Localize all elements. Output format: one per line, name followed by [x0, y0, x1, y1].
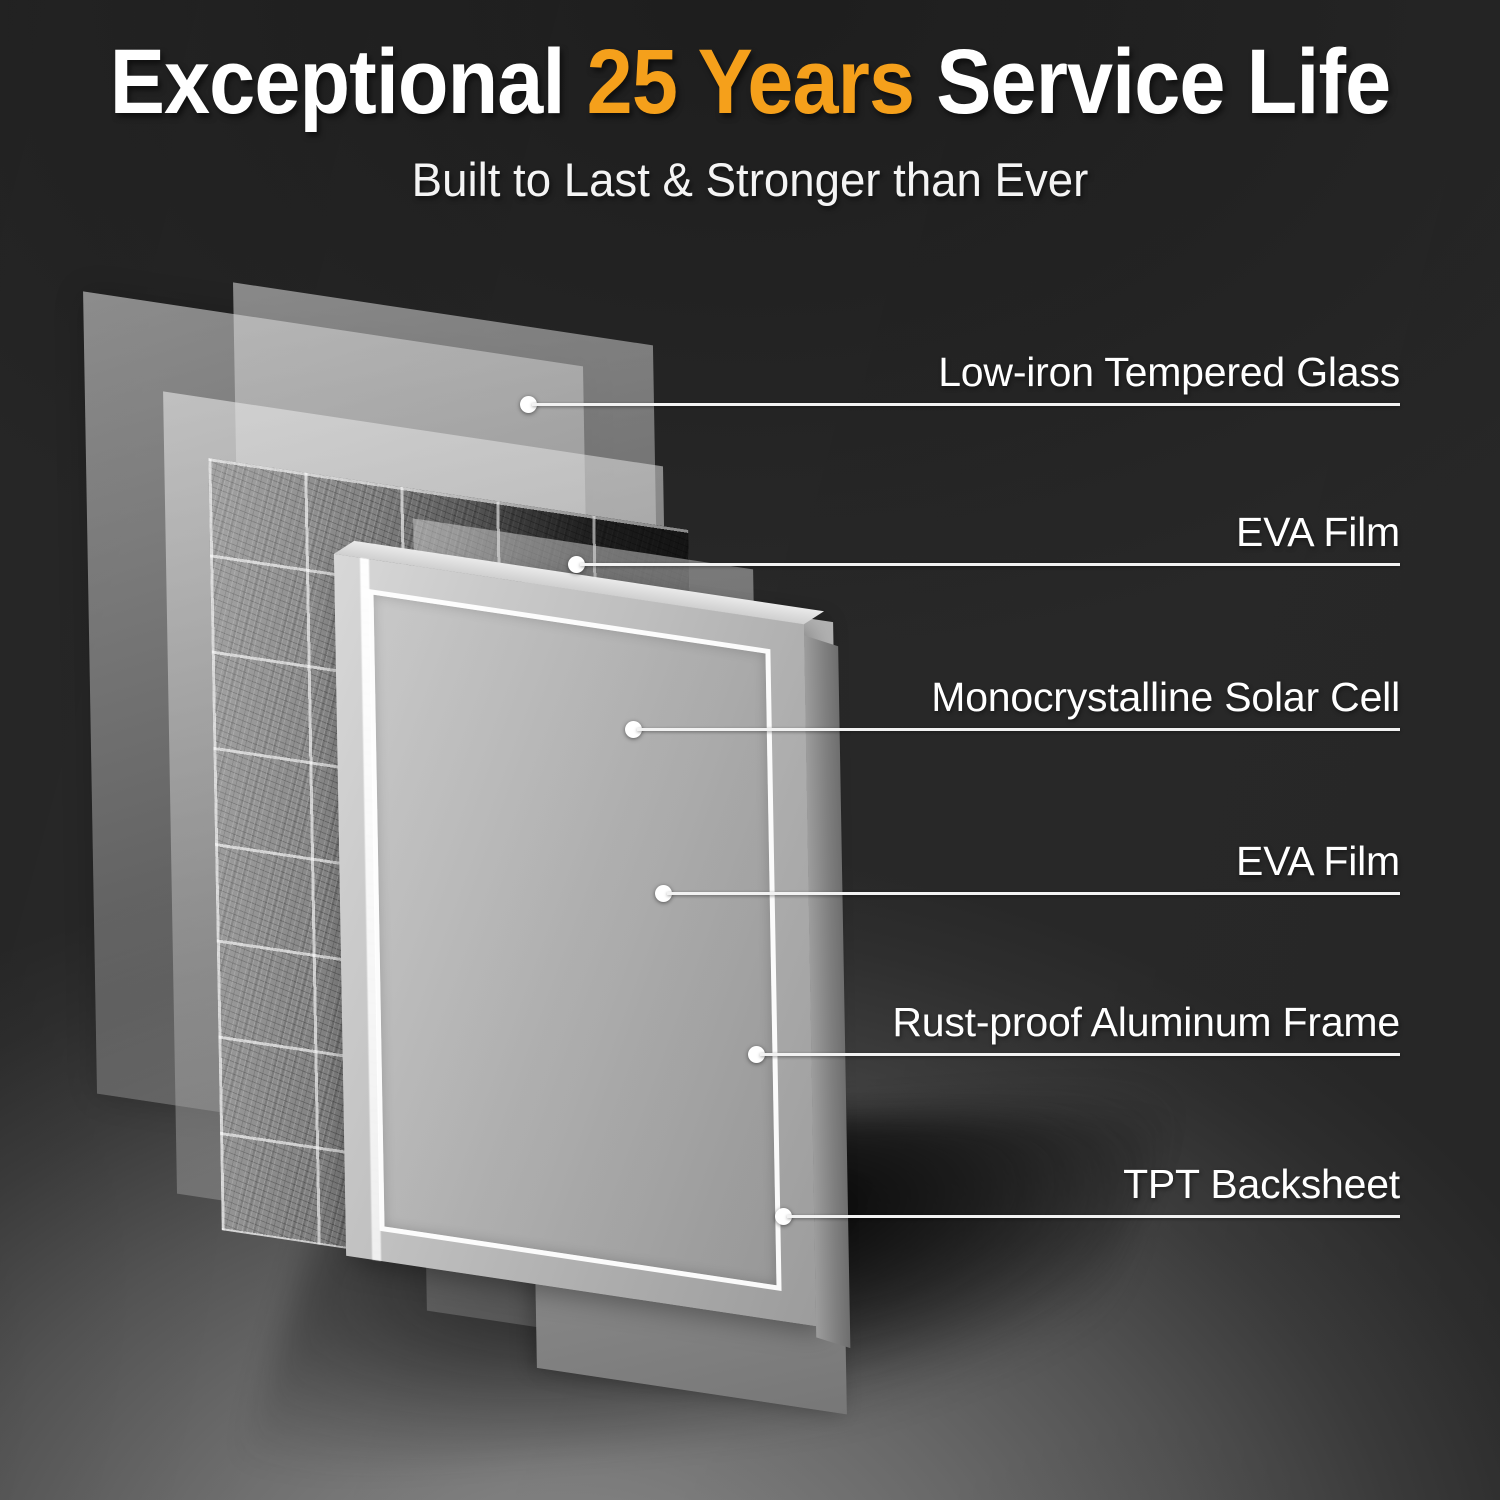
callout-rule	[532, 403, 1400, 406]
page-subtitle: Built to Last & Stronger than Ever	[23, 152, 1478, 207]
callout-monocrystalline-solar-cell: Monocrystalline Solar Cell	[625, 643, 1400, 731]
page-title: Exceptional 25 Years Service Life	[75, 36, 1425, 130]
callout-rule	[760, 1053, 1400, 1056]
title-part-2: Service Life	[936, 31, 1390, 133]
callout-rule	[667, 892, 1400, 895]
header: Exceptional 25 Years Service Life Built …	[0, 36, 1500, 207]
callout-eva-film-bottom: EVA Film	[655, 807, 1400, 895]
callout-rule	[637, 728, 1400, 731]
callout-rule	[580, 563, 1400, 566]
callout-label: EVA Film	[1236, 509, 1400, 556]
callout-eva-film-top: EVA Film	[568, 478, 1400, 566]
callout-aluminum-frame: Rust-proof Aluminum Frame	[748, 968, 1400, 1056]
callout-rule	[787, 1215, 1400, 1218]
callout-label: Rust-proof Aluminum Frame	[892, 999, 1400, 1046]
title-highlight: 25 Years	[587, 31, 914, 133]
callout-tpt-backsheet: TPT Backsheet	[775, 1130, 1400, 1218]
callout-label: EVA Film	[1236, 838, 1400, 885]
callout-label: Monocrystalline Solar Cell	[931, 674, 1400, 721]
callout-tempered-glass: Low-iron Tempered Glass	[520, 318, 1400, 406]
promo-graphic: Exceptional 25 Years Service Life Built …	[0, 0, 1500, 1500]
exploded-panel-illustration	[0, 0, 1500, 1500]
title-part-1: Exceptional	[110, 31, 565, 133]
callout-label: Low-iron Tempered Glass	[938, 349, 1400, 396]
callout-label: TPT Backsheet	[1123, 1161, 1400, 1208]
